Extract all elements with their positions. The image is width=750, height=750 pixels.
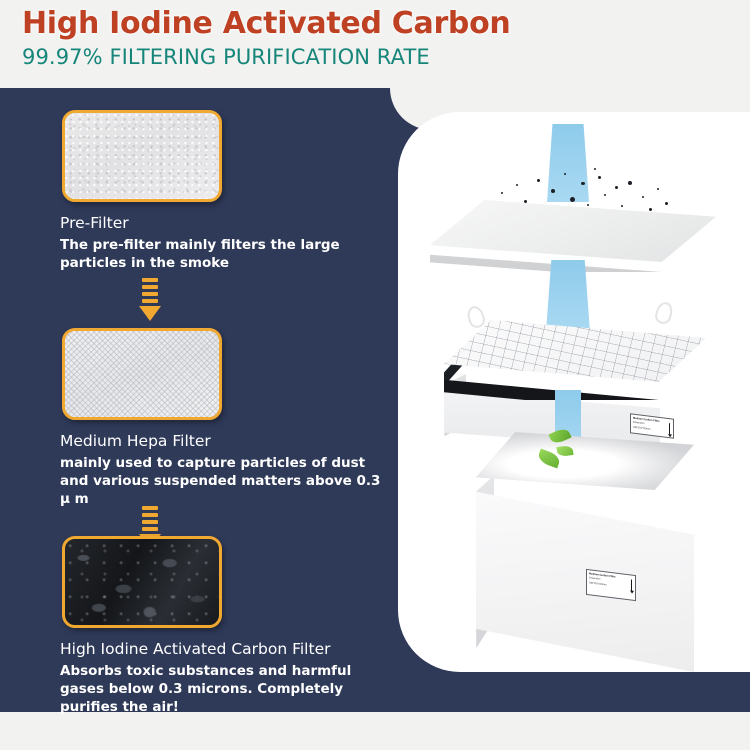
stages-column: Pre-Filter The pre-filter mainly filters… (0, 88, 398, 712)
header: High Iodine Activated Carbon 99.97% FILT… (0, 0, 750, 88)
pre-filter-sheet-top (430, 200, 716, 262)
carbon-box-inner-surface (476, 432, 694, 490)
tray-handle-left-icon (465, 304, 487, 330)
page-title: High Iodine Activated Carbon (22, 6, 510, 41)
box-label-arrow-icon (631, 579, 632, 590)
activated-carbon-box: Medium Carbon Filter Dimension 230*110*1… (428, 432, 718, 672)
tray-handle-right-icon (653, 300, 674, 326)
page-subtitle: 99.97% FILTERING PURIFICATION RATE (22, 45, 430, 69)
medium-hepa-description: mainly used to capture particles of dust… (60, 454, 390, 508)
medium-hepa-filter-swatch (62, 328, 222, 420)
diagram-panel: Medium Carbon Filter Dimension 230*110*1… (398, 112, 750, 672)
carbon-filter-description: Absorbs toxic substances and harmful gas… (60, 662, 390, 716)
pre-filter-description: The pre-filter mainly filters the large … (60, 236, 390, 272)
exploded-filter-diagram: Medium Carbon Filter Dimension 230*110*1… (398, 112, 750, 672)
medium-hepa-title: Medium Hepa Filter (60, 432, 211, 450)
pre-filter-swatch (62, 110, 222, 202)
carbon-box-front-face (476, 476, 694, 672)
down-arrow-icon-1 (139, 278, 161, 322)
carbon-filter-swatch (62, 536, 222, 628)
pre-filter-title: Pre-Filter (60, 214, 129, 232)
tray-mesh-surface (444, 320, 706, 382)
carbon-filter-title: High Iodine Activated Carbon Filter (60, 640, 330, 658)
infographic-root: High Iodine Activated Carbon 99.97% FILT… (0, 0, 750, 750)
